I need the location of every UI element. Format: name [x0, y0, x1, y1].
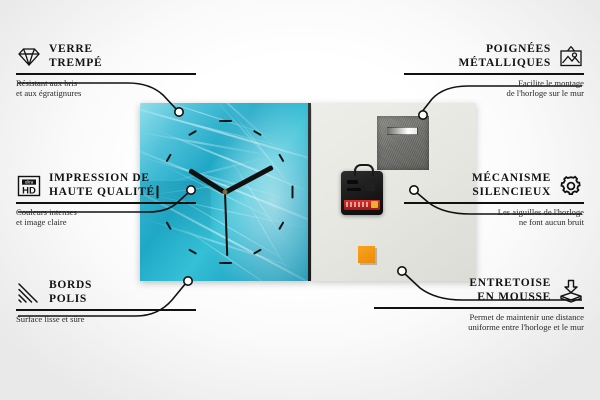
- mechanism-hanging-loop: [354, 164, 374, 176]
- diamond-icon: [16, 45, 42, 69]
- callout-rule: [16, 73, 196, 75]
- callout-impression-haute-qualite: ultra HD IMPRESSION DE HAUTE QUALITÉ Cou…: [16, 172, 196, 228]
- callout-desc: Les aiguilles de l'horloge: [404, 207, 584, 218]
- battery-label: [346, 202, 368, 207]
- callout-title: BORDS: [49, 279, 92, 293]
- foam-spacer-icon: [558, 279, 584, 303]
- callout-desc: et image claire: [16, 217, 196, 228]
- callout-desc: Facilite le montage: [404, 78, 584, 89]
- callout-rule: [16, 309, 196, 311]
- battery-terminal: [371, 201, 378, 208]
- ultra-hd-icon: ultra HD: [16, 174, 42, 198]
- callout-desc: uniforme entre l'horloge et le mur: [374, 322, 584, 333]
- callout-desc: Résistant aux bris: [16, 78, 196, 89]
- clock-tick: [219, 262, 232, 264]
- clock-tick: [253, 248, 262, 254]
- second-hand: [224, 192, 228, 256]
- callout-title: SILENCIEUX: [472, 186, 551, 200]
- callout-rule: [16, 202, 196, 204]
- callout-rule: [374, 307, 584, 309]
- callout-title: POLIS: [49, 293, 92, 307]
- picture-frame-icon: [558, 45, 584, 69]
- clock-tick: [165, 153, 171, 162]
- callout-title: TREMPÉ: [49, 57, 102, 71]
- clock-tick: [292, 186, 294, 199]
- callout-desc: ne font aucun bruit: [404, 217, 584, 228]
- callout-poignees-metalliques: POIGNÉES MÉTALLIQUES Facilite le montage…: [404, 43, 584, 99]
- callout-entretoise-en-mousse: ENTRETOISE EN MOUSSE Permet de maintenir…: [374, 277, 584, 333]
- keyhole-slot: [386, 127, 418, 135]
- callout-title: ENTRETOISE: [469, 277, 551, 291]
- clock-tick: [188, 130, 197, 136]
- callout-title: VERRE: [49, 43, 102, 57]
- foam-spacer: [358, 246, 375, 263]
- callout-desc: de l'horloge sur le mur: [404, 88, 584, 99]
- callout-verre-trempe: VERRE TREMPÉ Résistant aux bris et aux é…: [16, 43, 196, 99]
- callout-title: MÉCANISME: [472, 172, 551, 186]
- callout-desc: Couleurs intenses: [16, 207, 196, 218]
- clock-tick: [219, 120, 232, 122]
- callout-title: IMPRESSION DE: [49, 172, 155, 186]
- callout-title: EN MOUSSE: [469, 291, 551, 305]
- gear-icon: [558, 174, 584, 198]
- mechanism-detail: [347, 188, 361, 191]
- clock-tick: [253, 130, 262, 136]
- clock-tick: [279, 153, 285, 162]
- callout-desc: Surface lisse et sûre: [16, 314, 196, 325]
- callout-desc: et aux égratignures: [16, 88, 196, 99]
- polished-edge-icon: [16, 281, 42, 305]
- callout-mecanisme-silencieux: MÉCANISME SILENCIEUX Les aiguilles de l'…: [404, 172, 584, 228]
- callout-bords-polis: BORDS POLIS Surface lisse et sûre: [16, 279, 196, 324]
- callout-rule: [404, 73, 584, 75]
- mechanism-detail: [347, 180, 358, 184]
- callout-rule: [404, 202, 584, 204]
- clock-mechanism: [341, 171, 383, 215]
- clock-tick: [279, 222, 285, 231]
- callout-title: HAUTE QUALITÉ: [49, 186, 155, 200]
- hanger-plate: [377, 116, 429, 170]
- panel-edge: [308, 103, 311, 281]
- callout-title: MÉTALLIQUES: [459, 57, 551, 71]
- callout-desc: Permet de maintenir une distance: [374, 312, 584, 323]
- clock-tick: [188, 248, 197, 254]
- infographic-canvas: VERRE TREMPÉ Résistant aux bris et aux é…: [0, 0, 600, 400]
- ultra-hd-bottom-text: HD: [22, 185, 36, 196]
- callout-title: POIGNÉES: [459, 43, 551, 57]
- ultra-hd-top-text: ultra: [25, 179, 34, 184]
- mechanism-detail: [366, 179, 375, 191]
- battery: [344, 200, 380, 210]
- clock-hub: [223, 190, 228, 195]
- minute-hand: [224, 164, 274, 194]
